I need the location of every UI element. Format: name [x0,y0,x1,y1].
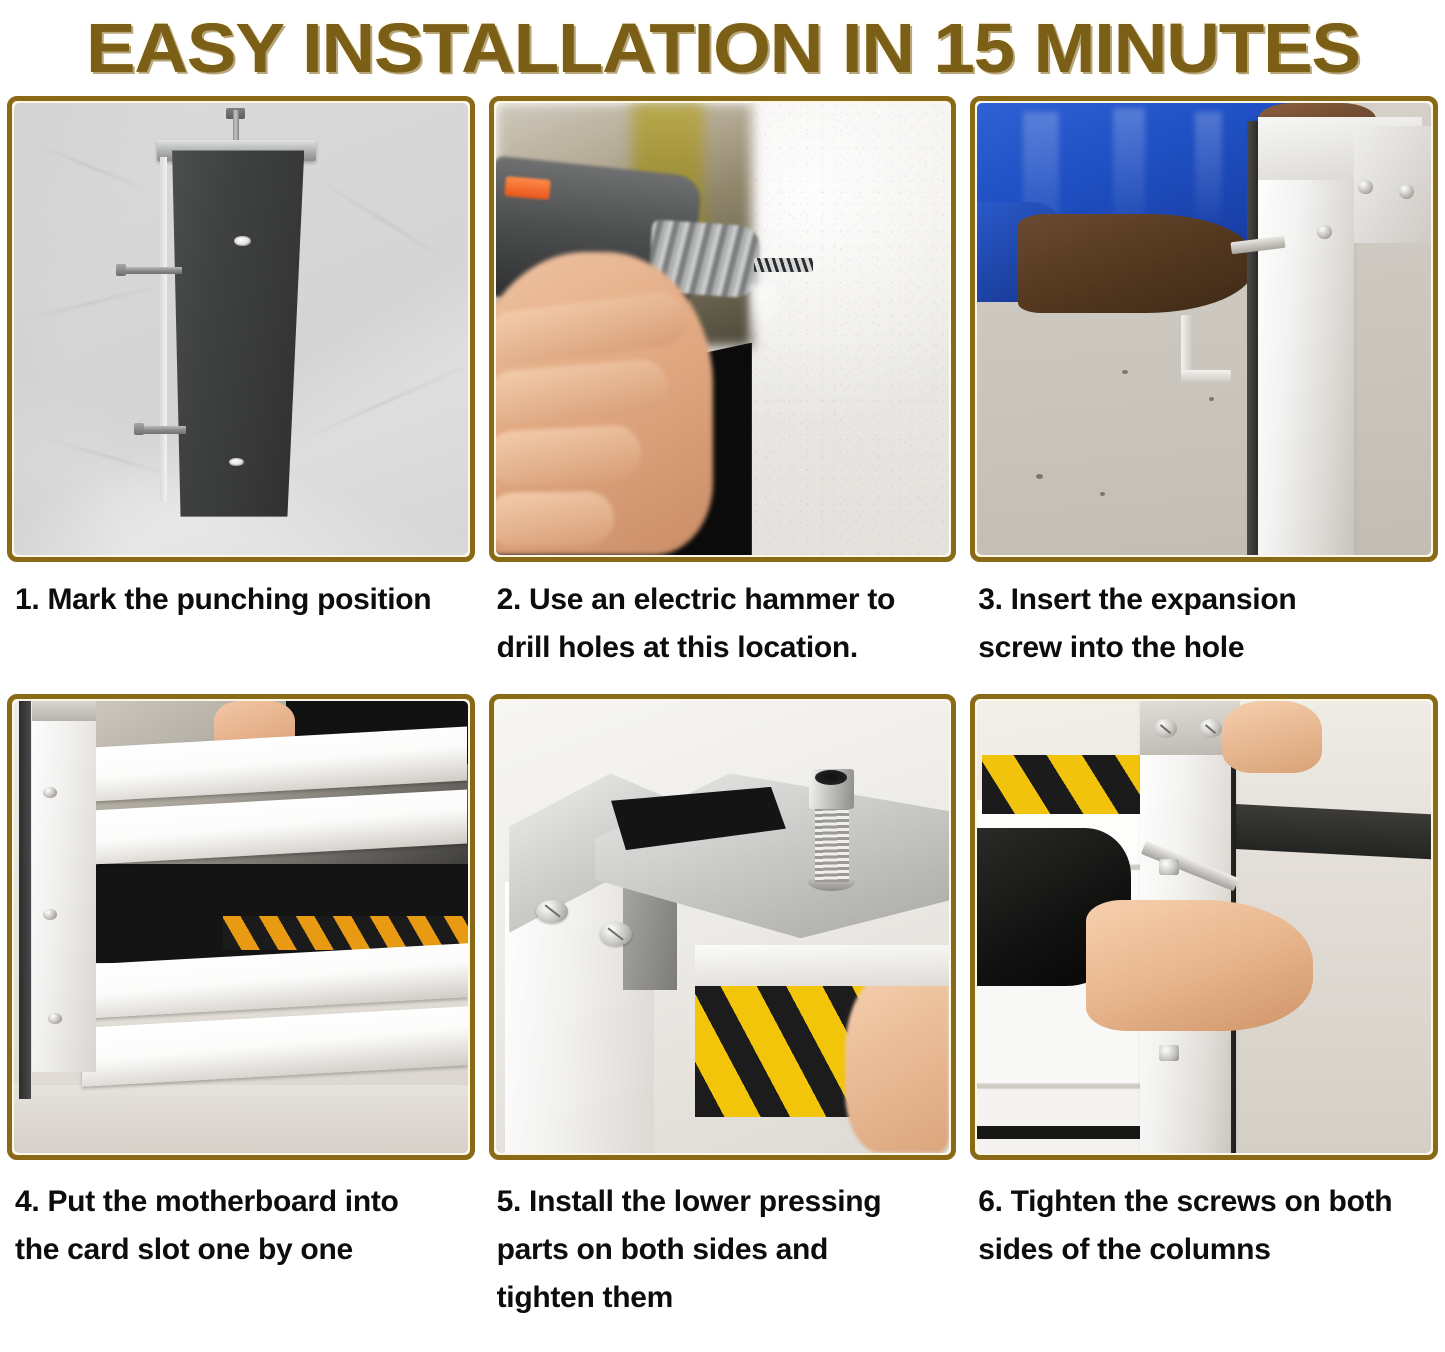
bolt-head-lower [134,423,144,435]
bolt-head-upper [116,264,126,276]
allen-key-short-arm [1181,370,1231,384]
page-title: EASY INSTALLATION IN 15 MINUTES [85,13,1359,83]
hazard-stripe-tape [982,755,1141,814]
step-1-photo-frame [7,96,475,562]
column-screw [48,1013,62,1024]
column-cap-screw [1199,719,1222,738]
column-screw [43,787,57,798]
installation-steps-grid: 1. Mark the punching position [0,96,1445,1322]
step-card-1: 1. Mark the punching position [0,96,482,672]
step-card-4: 4. Put the motherboard into the card slo… [0,694,482,1322]
column-cap-screw [1154,719,1177,738]
photo-insert-boards [14,701,468,1153]
step-card-2: 2. Use an electric hammer to drill holes… [482,96,964,672]
step-4-photo-frame [7,694,475,1160]
installer-hand [1086,900,1313,1031]
shirt-fold [1195,112,1222,230]
photo-expansion-screw [977,103,1431,555]
photo-drilling-wall [496,103,950,555]
worker-forearm [1018,214,1254,313]
step-card-5: 5. Install the lower pressing parts on b… [482,694,964,1322]
step-3-photo-frame [970,96,1438,562]
aluminium-column [1258,121,1353,555]
installer-upper-hand [1222,701,1322,773]
column-screw [1358,180,1373,194]
step-2-caption: 2. Use an electric hammer to drill holes… [489,562,957,672]
drill-dust [750,284,786,347]
column-dark-edge [19,701,31,1099]
step-1-caption: 1. Mark the punching position [7,562,475,624]
bracket-screw [600,922,632,946]
steps-row-1: 1. Mark the punching position [0,96,1445,672]
step-4-caption: 4. Put the motherboard into the card slo… [7,1160,475,1274]
expansion-bolt-upper [118,267,182,275]
bolt-hex-socket [815,770,847,785]
drill-trigger [504,176,551,200]
plate-hole-lower [229,458,244,466]
photo-mounting-plate [14,103,468,555]
photo-tighten-screws [977,701,1431,1153]
title-banner: EASY INSTALLATION IN 15 MINUTES [0,0,1445,96]
bolt-threaded-shaft [815,805,849,882]
step-5-caption: 5. Install the lower pressing parts on b… [489,1160,957,1322]
finger [496,491,614,547]
floor-speck [1209,397,1214,401]
plate-left-edge [160,157,167,501]
floor-speck [1036,474,1043,479]
finger [496,424,642,486]
column-top-bracket [32,701,96,721]
photo-pressing-bracket [496,701,950,1153]
step-2-photo-frame [489,96,957,562]
column-screw [43,909,57,920]
row-spacer [0,672,1445,694]
step-3-caption: 3. Insert the expansion screw into the h… [970,562,1438,672]
step-5-photo-frame [489,694,957,1160]
drill-bit [754,258,813,272]
column-screw [1159,1045,1180,1061]
installer-hand [845,972,949,1153]
step-card-3: 3. Insert the expansion screw into the h… [963,96,1445,672]
column-screw [1399,184,1414,198]
expansion-bolt-lower [136,426,186,434]
floor-speck [1100,492,1105,496]
allen-key-on-floor [1181,315,1231,383]
step-card-6: 6. Tighten the screws on both sides of t… [963,694,1445,1322]
screw-slot [544,905,560,919]
bottom-seal-strip [977,1126,1145,1140]
step-6-caption: 6. Tighten the screws on both sides of t… [970,1160,1438,1274]
step-6-photo-frame [970,694,1438,1160]
column-screw [1159,859,1180,875]
lower-barrier-board [695,945,949,986]
floor-speck [1122,370,1128,374]
screw-slot [608,927,624,941]
top-threaded-stud [233,110,240,144]
aluminium-column [32,701,96,1072]
steps-row-2: 4. Put the motherboard into the card slo… [0,694,1445,1322]
floor [14,1085,468,1153]
